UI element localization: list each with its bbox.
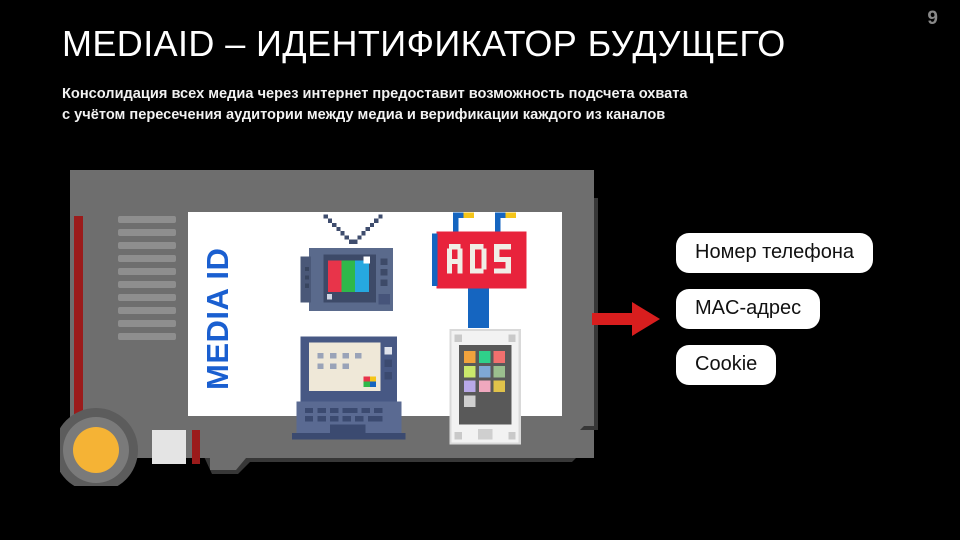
identifier-chip-list: Номер телефона MAC-адрес Cookie <box>676 233 873 385</box>
identifier-chip-cookie[interactable]: Cookie <box>676 345 776 385</box>
cartridge-chip-square <box>152 430 186 464</box>
laptop-icon <box>292 336 405 439</box>
cartridge-red-stripe-left <box>74 192 83 414</box>
slide-subtitle: Консолидация всех медиа через интернет п… <box>62 84 688 126</box>
game-cartridge-illustration: MEDIA ID <box>60 168 608 486</box>
smartphone-icon <box>451 330 520 443</box>
red-arrow-icon <box>592 300 660 338</box>
cartridge-button-core <box>73 427 119 473</box>
cartridge-label-text: MEDIA ID <box>200 248 235 390</box>
slide-title: MEDIAID – ИДЕНТИФИКАТОР БУДУЩЕГО <box>62 23 786 65</box>
slide-subtitle-line-1: Консолидация всех медиа через интернет п… <box>62 84 688 105</box>
identifier-chip-mac[interactable]: MAC-адрес <box>676 289 820 329</box>
cartridge-red-accent-bottom <box>192 430 200 464</box>
identifier-chip-phone[interactable]: Номер телефона <box>676 233 873 273</box>
slide-subtitle-line-2: с учётом пересечения аудитории между мед… <box>62 105 688 126</box>
page-number: 9 <box>927 8 938 30</box>
cartridge-top-ledge <box>70 170 190 216</box>
